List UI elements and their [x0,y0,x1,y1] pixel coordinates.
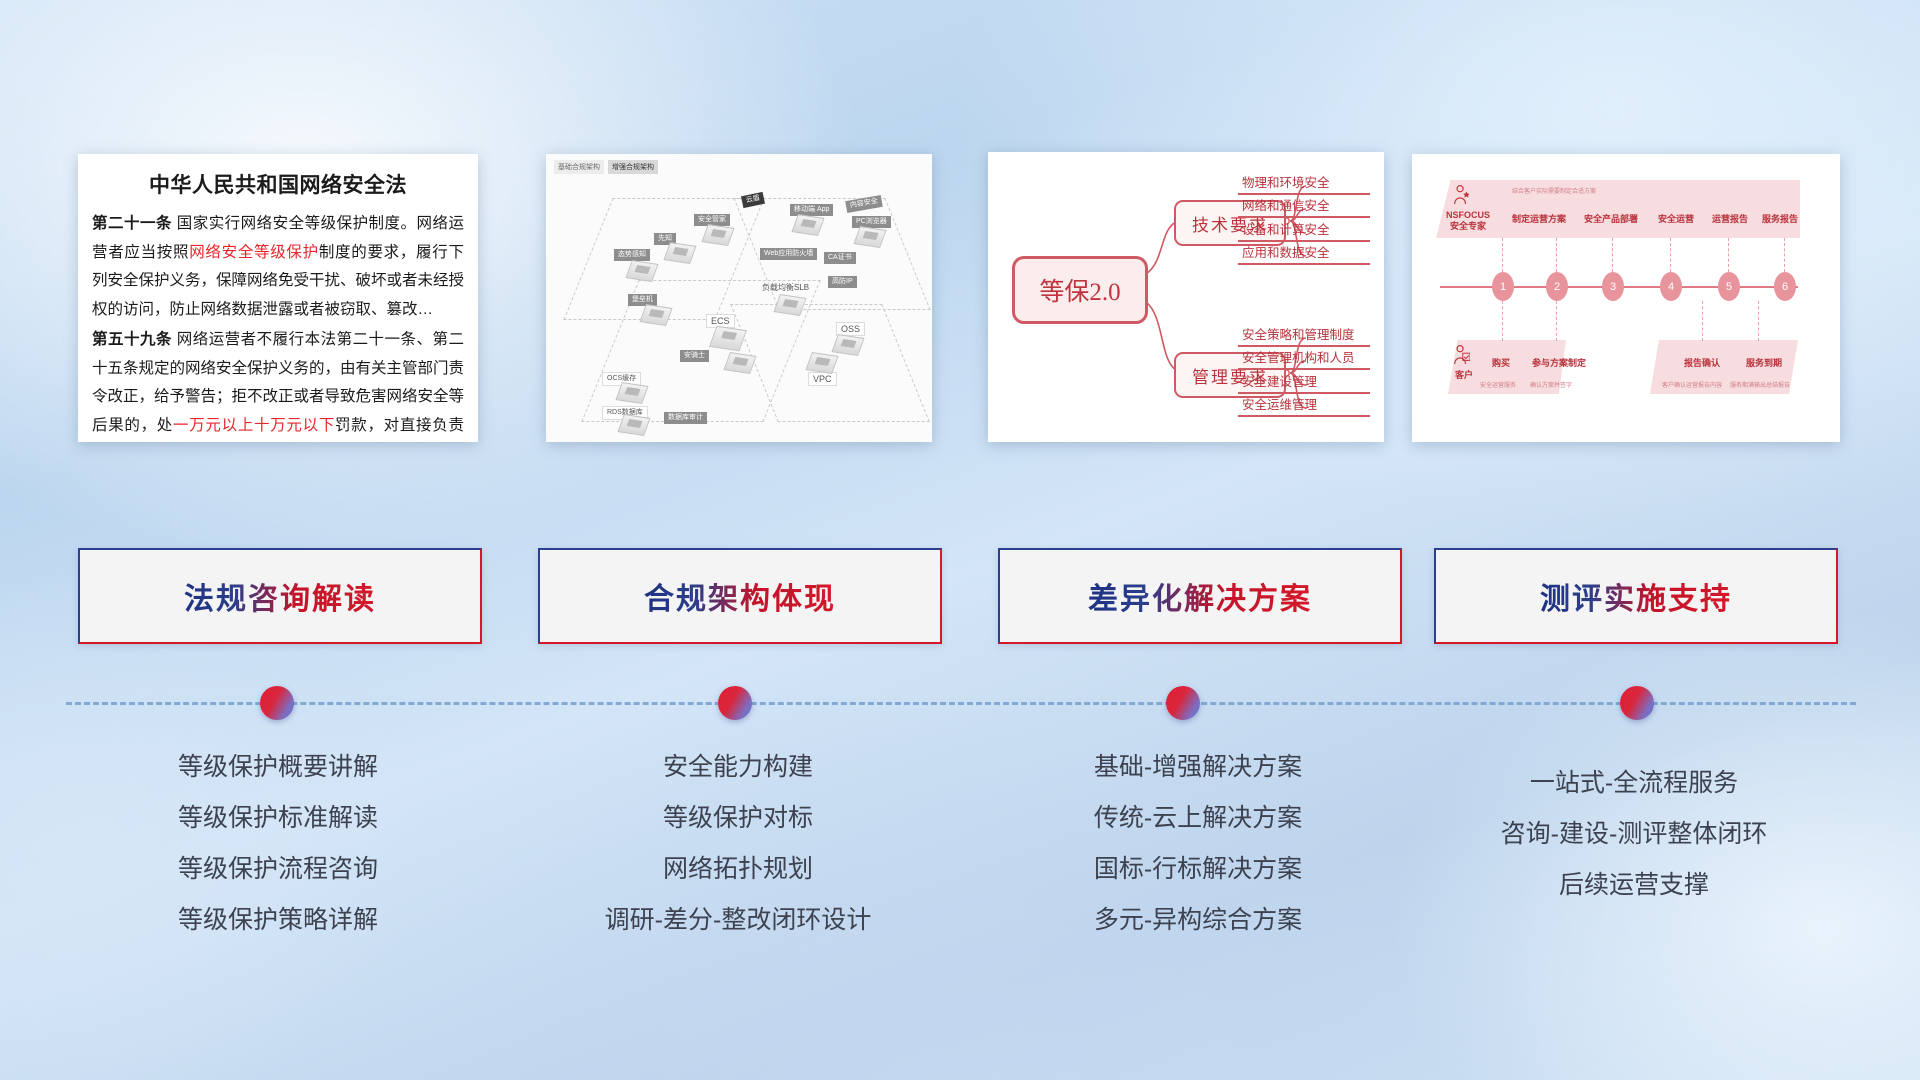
list-differentiated-solution: 基础-增强解决方案 传统-云上解决方案 国标-行标解决方案 多元-异构综合方案 [998,742,1398,946]
nsfocus-bl-label-2: 参与方案制定 [1532,356,1586,369]
nsfocus-br-sub-1: 客户确认运营报告内容 [1662,380,1722,389]
list-item: 等级保护流程咨询 [78,844,478,895]
tag-anqishi: 安骑士 [680,350,709,362]
nsfocus-br-label-1: 报告确认 [1684,356,1720,369]
section-label-assessment-support[interactable]: 测评实施支持 [1434,548,1838,644]
law-article-21: 第二十一条 国家实行网络安全等级保护制度。网络运营者应当按照网络安全等级保护制度… [92,210,464,324]
nsfocus-step-6[interactable]: 6 [1774,272,1796,301]
list-item: 等级保护标准解读 [78,793,478,844]
list-item: 基础-增强解决方案 [998,742,1398,793]
nsfocus-brand-sub: 安全专家 [1438,221,1498,232]
list-item: 国标-行标解决方案 [998,844,1398,895]
section-label-text: 测评实施支持 [1540,574,1732,618]
mindmap-leaf-network-comm: 网络和通信安全 [1238,195,1370,218]
architecture-tabs[interactable]: 基础合规架构 增强合规架构 [554,160,658,174]
nsfocus-connector-5 [1728,238,1729,272]
list-regulation-consulting: 等级保护概要讲解 等级保护标准解读 等级保护流程咨询 等级保护策略详解 [78,742,478,946]
image-card-row: 中华人民共和国网络安全法 第二十一条 国家实行网络安全等级保护制度。网络运营者应… [0,0,1920,460]
card-mindmap-dengbao[interactable]: 等保2.0 技术要求 管理要求 物理和环境安全 网络和通信安全 设备和计算安全 … [988,152,1384,442]
tag-load-balancer: 负载均衡SLB [758,282,813,294]
nsfocus-connector-1 [1502,238,1503,272]
article-21-label: 第二十一条 [92,215,172,232]
nsfocus-top-label-3: 安全运营 [1658,212,1694,225]
tag-high-defense-ip: 高防IP [828,276,857,288]
list-item: 一站式-全流程服务 [1434,758,1834,809]
nsfocus-step-1[interactable]: 1 [1492,272,1514,301]
nsfocus-top-note: 结合客户实际需要制定合适方案 [1512,186,1596,195]
nsfocus-connector-3 [1612,238,1613,272]
law-article-59: 第五十九条 网络运营者不履行本法第二十一条、第二十五条规定的网络安全保护义务的，… [92,326,464,442]
mindmap-leaf-construction-mgmt: 安全建设管理 [1238,371,1370,394]
timeline-dot-1[interactable] [260,686,294,720]
nsfocus-connector-b4 [1758,301,1759,341]
nsfocus-top-label-1: 制定运营方案 [1512,212,1566,225]
slide-canvas: 中华人民共和国网络安全法 第二十一条 国家实行网络安全等级保护制度。网络运营者应… [0,0,1920,1080]
mindmap: 等保2.0 技术要求 管理要求 物理和环境安全 网络和通信安全 设备和计算安全 … [988,152,1384,442]
list-item: 等级保护对标 [538,793,938,844]
article-59-highlight-1: 一万元以上十万元以下 [173,417,335,434]
law-title: 中华人民共和国网络安全法 [78,169,478,199]
list-assessment-support: 一站式-全流程服务 咨询-建设-测评整体闭环 后续运营支撑 [1434,742,1834,911]
tab-basic-architecture[interactable]: 基础合规架构 [554,160,604,174]
nsfocus-connector-2 [1556,238,1557,272]
list-item: 咨询-建设-测评整体闭环 [1434,809,1834,860]
section-item-lists: 等级保护概要讲解 等级保护标准解读 等级保护流程咨询 等级保护策略详解 安全能力… [0,742,1920,1002]
customer-person-icon [1452,344,1470,366]
section-label-text: 合规架构体现 [644,574,836,618]
card-nsfocus-service-timeline[interactable]: NSFOCUS 安全专家 结合客户实际需要制定合适方案 制定运营方案 安全产品部… [1412,154,1840,442]
section-label-row: 法规咨询解读 合规架构体现 差异化解决方案 测评实施支持 [0,548,1920,644]
card-cybersecurity-law[interactable]: 中华人民共和国网络安全法 第二十一条 国家实行网络安全等级保护制度。网络运营者应… [78,154,478,442]
section-label-compliance-architecture[interactable]: 合规架构体现 [538,548,942,644]
mindmap-leaf-org-personnel: 安全管理机构和人员 [1238,347,1370,370]
nsfocus-step-4[interactable]: 4 [1660,272,1682,301]
nsfocus-step-5[interactable]: 5 [1718,272,1740,301]
tag-vpc: VPC [808,372,837,386]
list-item: 传统-云上解决方案 [998,793,1398,844]
section-label-differentiated-solution[interactable]: 差异化解决方案 [998,548,1402,644]
mindmap-leaf-policy-system: 安全策略和管理制度 [1238,324,1370,347]
article-21-highlight: 网络安全等级保护 [189,244,319,261]
mindmap-leaf-app-data: 应用和数据安全 [1238,242,1370,265]
nsfocus-connector-b2 [1556,301,1557,341]
expert-person-icon [1452,184,1470,206]
nsfocus-step-2[interactable]: 2 [1546,272,1568,301]
timeline-dot-3[interactable] [1166,686,1200,720]
section-label-regulation-consulting[interactable]: 法规咨询解读 [78,548,482,644]
nsfocus-br-label-2: 服务到期 [1746,356,1782,369]
mindmap-leaf-ops-mgmt: 安全运维管理 [1238,394,1370,417]
list-item: 等级保护概要讲解 [78,742,478,793]
nsfocus-bl-label-1: 购买 [1492,356,1510,369]
nsfocus-br-sub-2: 服务期满输出总结报告 [1730,380,1790,389]
nsfocus-brand: NSFOCUS 安全专家 [1438,210,1498,232]
list-item: 等级保护策略详解 [78,895,478,946]
list-item: 多元-异构综合方案 [998,895,1398,946]
tag-web-firewall: Web应用防火墙 [760,248,817,260]
timeline-dot-4[interactable] [1620,686,1654,720]
nsfocus-timeline: NSFOCUS 安全专家 结合客户实际需要制定合适方案 制定运营方案 安全产品部… [1412,154,1840,442]
card-compliance-architecture[interactable]: 基础合规架构 增强合规架构 云盾 安全管家 先知 态势感知 堡垒机 ECS 安骑 [546,154,932,442]
nsfocus-bl-sub-1: 安全运营服务 [1480,380,1516,389]
nsfocus-top-label-2: 安全产品部署 [1584,212,1638,225]
nsfocus-connector-b3 [1702,301,1703,341]
nsfocus-connector-b1 [1502,301,1503,341]
nsfocus-brand-name: NSFOCUS [1438,210,1498,221]
law-body: 第二十一条 国家实行网络安全等级保护制度。网络运营者应当按照网络安全等级保护制度… [78,210,478,442]
tag-database-audit: 数据库审计 [664,412,707,424]
nsfocus-bl-sub-2: 确认方案并签字 [1530,380,1572,389]
list-item: 安全能力构建 [538,742,938,793]
architecture-diagram: 基础合规架构 增强合规架构 云盾 安全管家 先知 态势感知 堡垒机 ECS 安骑 [546,154,932,442]
mindmap-root: 等保2.0 [1012,256,1148,324]
section-label-text: 差异化解决方案 [1088,574,1312,618]
tag-ca-cert: CA证书 [824,252,856,264]
nsfocus-top-label-4: 运营报告 [1712,212,1748,225]
list-item: 调研-差分-整改闭环设计 [538,895,938,946]
list-item: 网络拓扑规划 [538,844,938,895]
list-item: 后续运营支撑 [1434,860,1834,911]
tag-mobile-app: 移动端 App [790,204,833,216]
mindmap-leaf-physical-env: 物理和环境安全 [1238,172,1370,195]
nsfocus-customer-label: 客户 [1444,370,1484,381]
tab-enhanced-architecture[interactable]: 增强合规架构 [608,160,658,174]
timeline-dot-2[interactable] [718,686,752,720]
timeline-dashed-line [66,702,1856,709]
tag-pc-browser: PC浏览器 [852,216,891,228]
mindmap-leaf-device-compute: 设备和计算安全 [1238,219,1370,242]
nsfocus-connector-4 [1670,238,1671,272]
section-label-text: 法规咨询解读 [184,574,376,618]
nsfocus-connector-6 [1784,238,1785,272]
article-59-label: 第五十九条 [92,331,172,348]
list-compliance-architecture: 安全能力构建 等级保护对标 网络拓扑规划 调研-差分-整改闭环设计 [538,742,938,946]
nsfocus-top-label-5: 服务报告 [1762,212,1798,225]
nsfocus-step-3[interactable]: 3 [1602,272,1624,301]
